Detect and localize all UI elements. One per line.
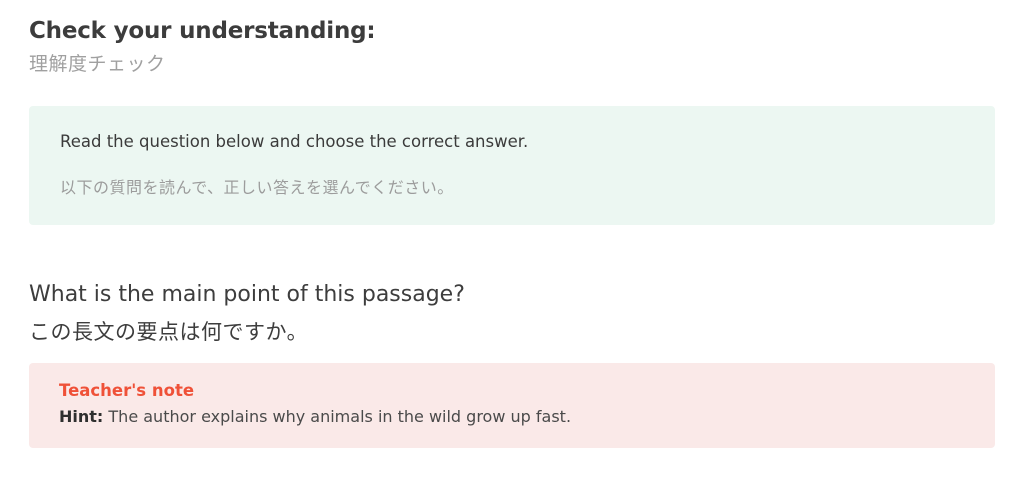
instruction-callout: Read the question below and choose the c… [29, 106, 995, 224]
question-block: What is the main point of this passage? … [29, 282, 995, 346]
teacher-note-callout: Teacher's note Hint: The author explains… [29, 363, 995, 449]
page-title-translation: 理解度チェック [29, 52, 995, 77]
section-header: Check your understanding: 理解度チェック [29, 0, 995, 76]
question-text-english: What is the main point of this passage? [29, 282, 995, 308]
instruction-text-japanese: 以下の質問を読んで、正しい答えを選んでください。 [60, 177, 964, 199]
hint-text: The author explains why animals in the w… [108, 407, 571, 426]
page-title: Check your understanding: [29, 17, 995, 46]
lesson-page: Check your understanding: 理解度チェック Read t… [0, 0, 1024, 481]
instruction-text-english: Read the question below and choose the c… [60, 130, 964, 153]
hint-label: Hint: [59, 407, 103, 426]
question-text-japanese: この長文の要点は何ですか。 [29, 319, 995, 345]
teacher-note-title: Teacher's note [59, 380, 965, 401]
teacher-note-body: Hint: The author explains why animals in… [59, 405, 965, 428]
